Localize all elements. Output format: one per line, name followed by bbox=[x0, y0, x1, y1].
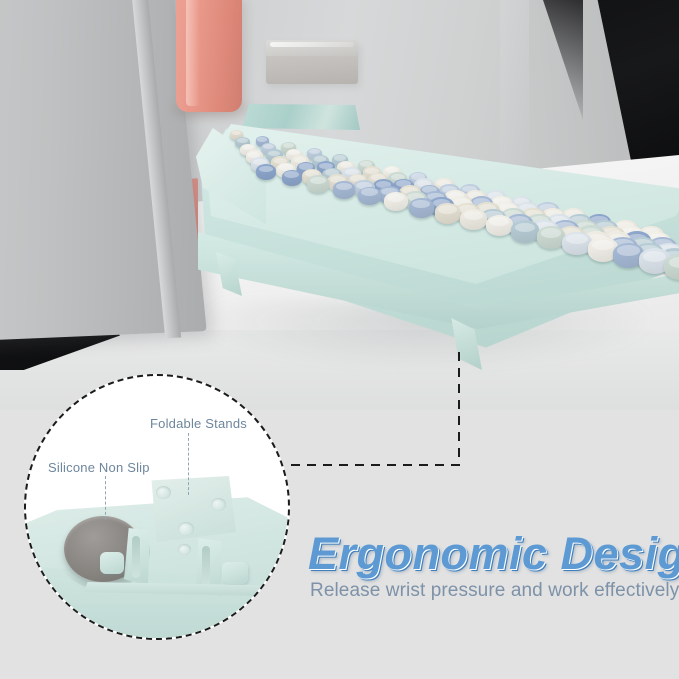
stand-hinge-slot-right bbox=[202, 546, 210, 588]
label-silicone-non-slip: Silicone Non Slip bbox=[48, 460, 150, 475]
keycap bbox=[460, 209, 487, 230]
stand-screw-dot-4 bbox=[178, 544, 191, 555]
keycap bbox=[333, 181, 355, 199]
stand-pivot-left bbox=[100, 552, 124, 574]
keyboard-underside-lower bbox=[24, 566, 290, 640]
keycap bbox=[511, 220, 539, 243]
stand-screw-dot-3 bbox=[178, 522, 194, 536]
keycap bbox=[256, 164, 276, 180]
keycap bbox=[435, 203, 461, 224]
keycap bbox=[282, 170, 303, 187]
label-foldable-stands: Foldable Stands bbox=[150, 416, 247, 431]
leader-line-foldable bbox=[188, 433, 189, 495]
stand-screw-dot-1 bbox=[156, 486, 171, 499]
leader-line-silicone bbox=[105, 476, 106, 520]
magnified-detail-circle: Silicone Non Slip Foldable Stands bbox=[24, 374, 290, 640]
product-infographic: Silicone Non Slip Foldable Stands Ergono… bbox=[0, 0, 679, 679]
keycap bbox=[307, 175, 329, 192]
keycap bbox=[358, 187, 381, 206]
keycap bbox=[409, 198, 434, 218]
keycap bbox=[486, 215, 513, 237]
headline: Ergonomic Design bbox=[308, 528, 679, 580]
clear-box-highlight bbox=[270, 42, 354, 47]
keycap bbox=[384, 192, 408, 211]
pink-cup-highlight bbox=[186, 0, 200, 106]
stand-pivot-right bbox=[222, 562, 248, 584]
stand-hinge-slot-left bbox=[132, 536, 140, 578]
stand-screw-dot-2 bbox=[211, 498, 226, 511]
keyboard bbox=[196, 112, 679, 358]
subheadline: Release wrist pressure and work effectiv… bbox=[310, 580, 679, 602]
